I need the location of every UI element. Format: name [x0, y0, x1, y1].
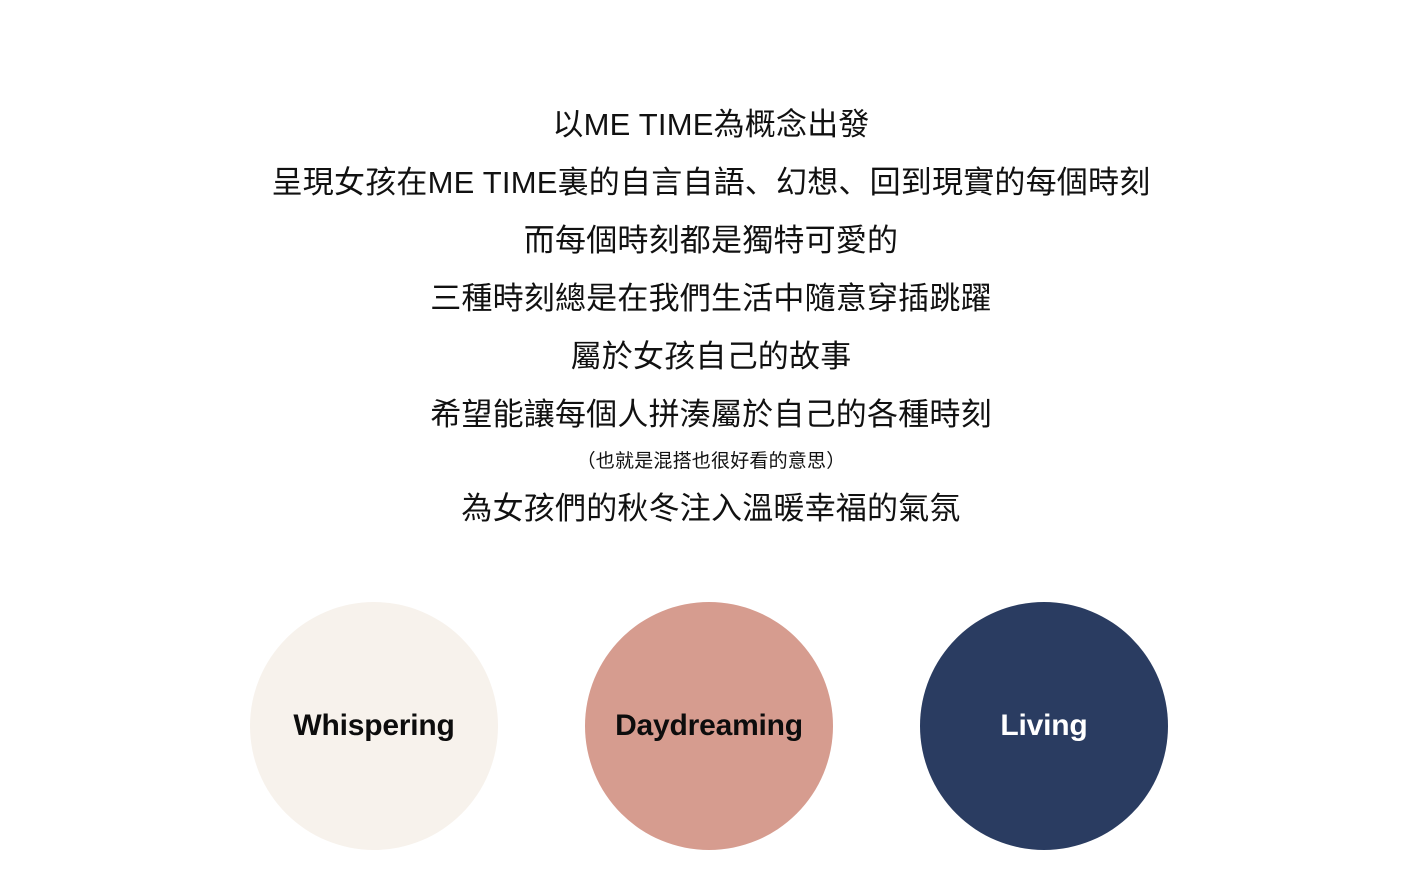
copy-line-1: 以ME TIME為概念出發 — [0, 96, 1422, 154]
concept-copy-block: 以ME TIME為概念出發 呈現女孩在ME TIME裏的自言自語、幻想、回到現實… — [0, 96, 1422, 538]
circle-daydreaming[interactable]: Daydreaming — [585, 602, 833, 850]
copy-line-5: 屬於女孩自己的故事 — [0, 328, 1422, 386]
circle-whispering-label: Whispering — [293, 711, 454, 741]
copy-line-7-parenthetical: （也就是混搭也很好看的意思） — [0, 444, 1422, 480]
copy-line-6: 希望能讓每個人拼湊屬於自己的各種時刻 — [0, 386, 1422, 444]
concept-circles-row: Whispering Daydreaming Living — [250, 602, 1166, 850]
circle-living-label: Living — [1000, 711, 1087, 741]
copy-line-8: 為女孩們的秋冬注入溫暖幸福的氣氛 — [0, 480, 1422, 538]
circle-whispering[interactable]: Whispering — [250, 602, 498, 850]
circle-living[interactable]: Living — [920, 602, 1168, 850]
slide-canvas: 以ME TIME為概念出發 呈現女孩在ME TIME裏的自言自語、幻想、回到現實… — [0, 0, 1422, 880]
copy-line-2: 呈現女孩在ME TIME裏的自言自語、幻想、回到現實的每個時刻 — [0, 154, 1422, 212]
copy-line-3: 而每個時刻都是獨特可愛的 — [0, 212, 1422, 270]
circle-daydreaming-label: Daydreaming — [615, 711, 803, 741]
copy-line-4: 三種時刻總是在我們生活中隨意穿插跳躍 — [0, 270, 1422, 328]
